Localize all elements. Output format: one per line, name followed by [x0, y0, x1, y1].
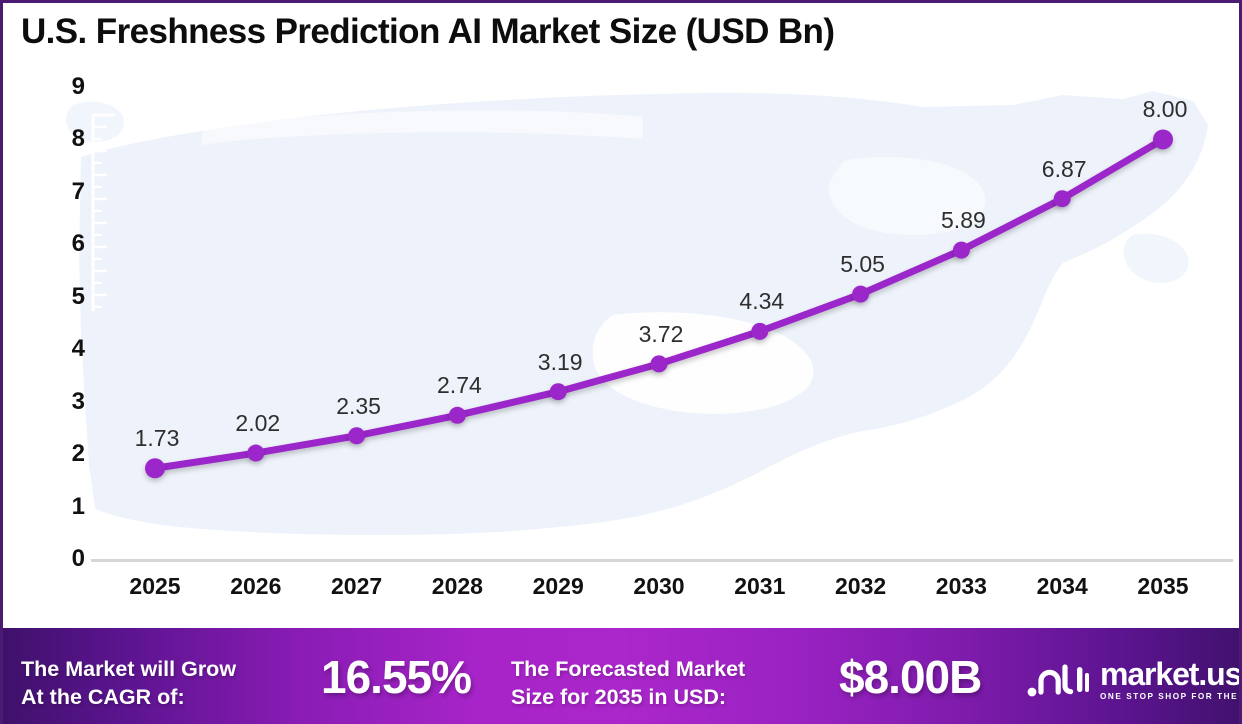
data-label-2033: 5.89 — [941, 207, 986, 234]
line-series — [3, 65, 1239, 585]
data-point-2027[interactable] — [348, 427, 365, 444]
data-point-2029[interactable] — [550, 383, 567, 400]
forecast-value: $8.00B — [839, 654, 981, 700]
data-label-2034: 6.87 — [1042, 156, 1087, 183]
data-label-2031: 4.34 — [739, 288, 784, 315]
cagr-caption-line1: The Market will Grow — [21, 656, 236, 684]
waveform-bars-icon — [1027, 661, 1089, 699]
data-point-2028[interactable] — [449, 407, 466, 424]
data-point-2025[interactable] — [145, 458, 165, 478]
data-point-2030[interactable] — [651, 355, 668, 372]
data-label-2026: 2.02 — [235, 410, 280, 437]
data-label-2035: 8.00 — [1143, 96, 1188, 123]
chart-infographic: U.S. Freshness Prediction AI Market Size… — [0, 0, 1242, 724]
data-point-2026[interactable] — [247, 445, 264, 462]
chart-plot-area: 0123456789 20252026202720282029203020312… — [3, 65, 1239, 625]
data-point-2033[interactable] — [953, 242, 970, 259]
forecast-caption-line2: Size for 2035 in USD: — [511, 684, 745, 712]
cagr-value: 16.55% — [321, 654, 471, 700]
data-label-2028: 2.74 — [437, 372, 482, 399]
page-title: U.S. Freshness Prediction AI Market Size… — [21, 12, 834, 52]
cagr-caption-line2: At the CAGR of: — [21, 684, 236, 712]
cagr-caption: The Market will Grow At the CAGR of: — [21, 656, 236, 711]
data-label-2029: 3.19 — [538, 349, 583, 376]
data-label-2025: 1.73 — [135, 425, 180, 452]
data-point-2032[interactable] — [852, 286, 869, 303]
data-label-2032: 5.05 — [840, 251, 885, 278]
brand-logo[interactable]: market.us ONE STOP SHOP FOR THE REPORTS — [1027, 658, 1242, 701]
data-label-2027: 2.35 — [336, 393, 381, 420]
forecast-caption: The Forecasted Market Size for 2035 in U… — [511, 656, 745, 711]
data-point-2031[interactable] — [751, 323, 768, 340]
forecast-caption-line1: The Forecasted Market — [511, 656, 745, 684]
data-point-2034[interactable] — [1054, 190, 1071, 207]
logo-wordmark: market.us — [1100, 658, 1242, 690]
summary-banner: The Market will Grow At the CAGR of: 16.… — [3, 628, 1242, 724]
logo-tagline: ONE STOP SHOP FOR THE REPORTS — [1100, 693, 1242, 701]
data-label-2030: 3.72 — [639, 321, 684, 348]
data-point-2035[interactable] — [1153, 129, 1173, 149]
